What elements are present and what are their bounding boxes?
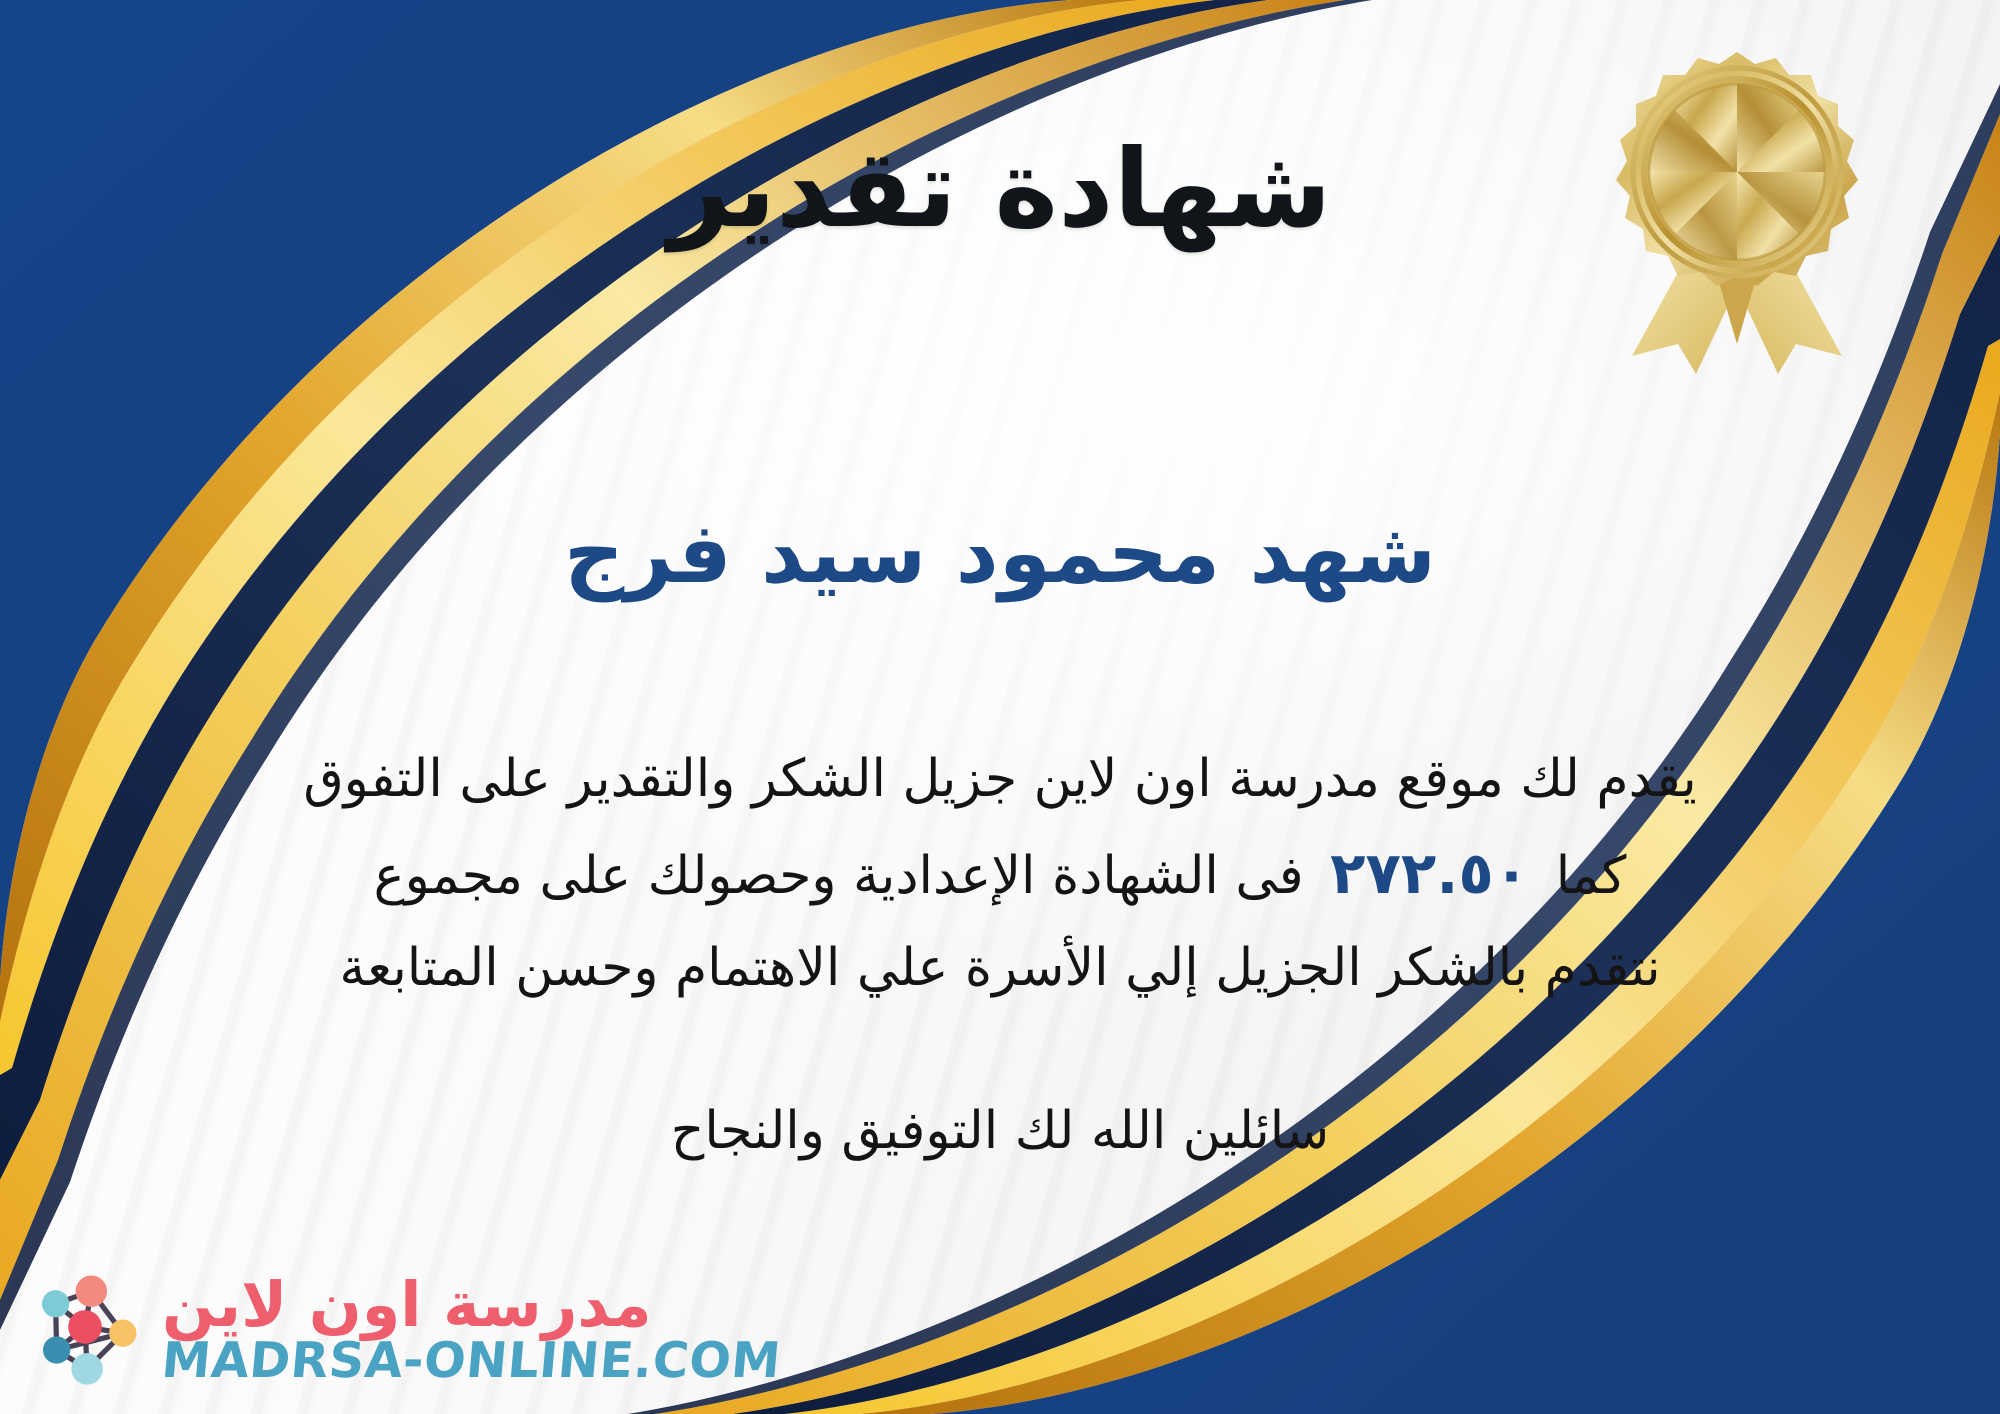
body-line-2-before-score: فى الشهادة الإعدادية وحصولك على مجموع — [374, 846, 1304, 906]
body-line-2: كما ٢٧٢.٥٠ فى الشهادة الإعدادية وحصولك ع… — [60, 824, 1940, 924]
brand-arabic-name: مدرسة اون لاين — [162, 1274, 652, 1336]
certificate-canvas: شهادة تقدير شهد محمود سيد فرج يقدم لك مو… — [0, 0, 2000, 1414]
network-graph-icon — [22, 1266, 148, 1392]
recipient-name: شهد محمود سيد فرج — [0, 503, 2000, 604]
page-title: شهادة تقدير — [0, 128, 2000, 252]
total-score-value: ٢٧٢.٥٠ — [1320, 839, 1539, 907]
certificate-content: شهادة تقدير شهد محمود سيد فرج يقدم لك مو… — [0, 0, 2000, 1414]
body-line-3: نتقدم بالشكر الجزيل إلي الأسرة علي الاهت… — [60, 924, 1940, 1013]
brand-website-url[interactable]: MADRSA-ONLINE.COM — [160, 1336, 783, 1385]
body-line-2-after-score: كما — [1556, 846, 1627, 906]
certificate-body: يقدم لك موقع مدرسة اون لاين جزيل الشكر و… — [60, 735, 1940, 1014]
site-logo[interactable]: مدرسة اون لاين MADRSA-ONLINE.COM — [22, 1266, 781, 1392]
brand-text-group: مدرسة اون لاين MADRSA-ONLINE.COM — [162, 1274, 781, 1385]
closing-wish-line: سائلين الله لك التوفيق والنجاح — [0, 1090, 2000, 1173]
body-line-1: يقدم لك موقع مدرسة اون لاين جزيل الشكر و… — [60, 735, 1940, 824]
